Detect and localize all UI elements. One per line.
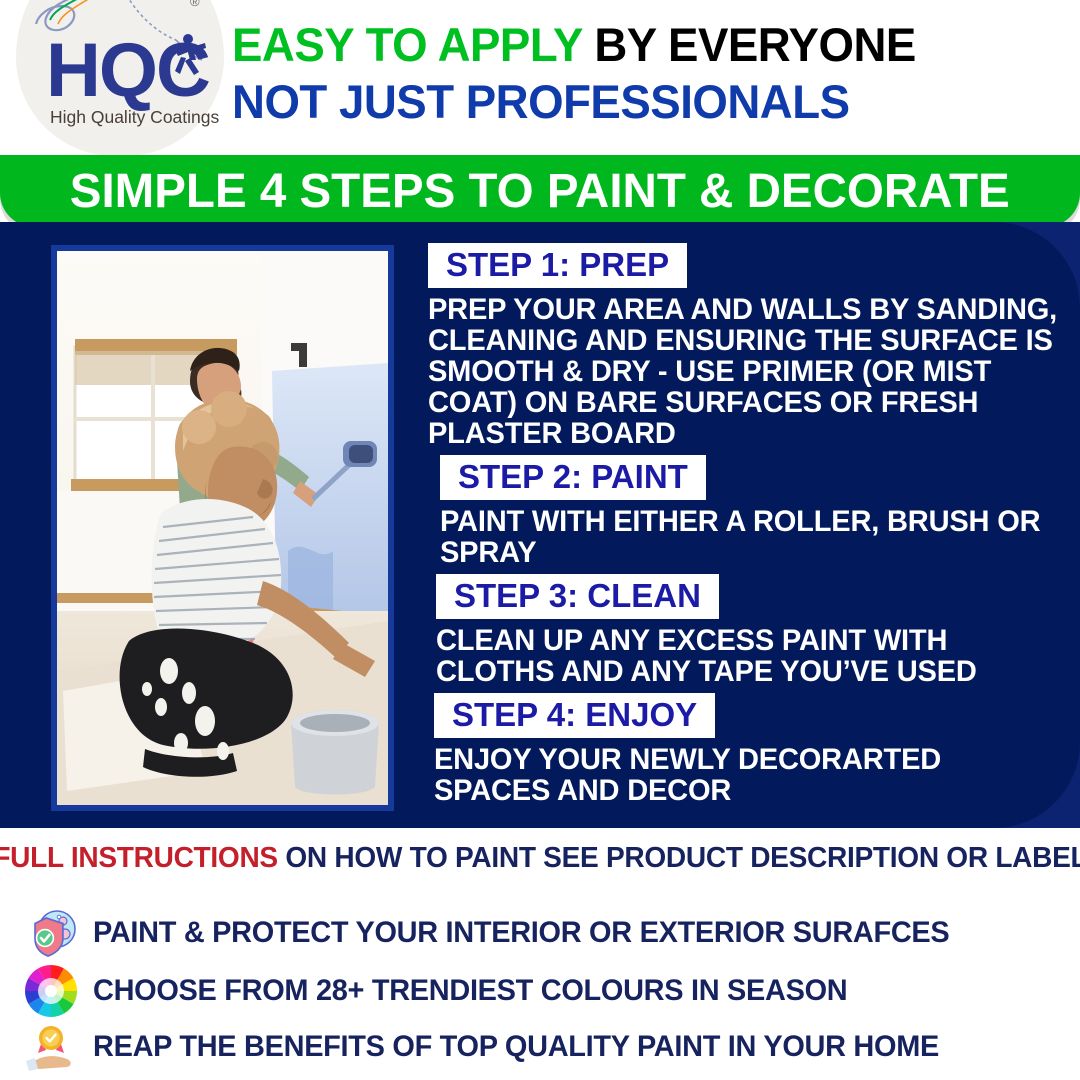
full-instructions-rest: ON HOW TO PAINT SEE PRODUCT DESCRIPTION … [277, 842, 1080, 874]
step-3-chip: STEP 3: CLEAN [436, 574, 719, 619]
paint-tin [291, 710, 379, 795]
brand-logo[interactable]: ® HQC High Quality Coatings [16, 0, 224, 156]
headline-not-just-professionals: NOT JUST PROFESSIONALS [232, 75, 850, 128]
full-instructions-text: FULL INSTRUCTIONS ON HOW TO PAINT SEE PR… [0, 842, 1080, 875]
step-4-body: ENJOY YOUR NEWLY DECORARTED SPACES AND D… [434, 744, 1058, 806]
step-3-body: CLEAN UP ANY EXCESS PAINT WITH CLOTHS AN… [436, 625, 1059, 687]
step-item-4: STEP 4: ENJOY ENJOY YOUR NEWLY DECORARTE… [434, 693, 1068, 806]
step-item-2: STEP 2: PAINT PAINT WITH EITHER A ROLLER… [440, 455, 1068, 568]
step-1-body: PREP YOUR AREA AND WALLS BY SANDING, CLE… [428, 294, 1058, 449]
feature-row-quality: REAP THE BENEFITS OF TOP QUALITY PAINT I… [9, 1018, 1071, 1076]
steps-banner-inner: SIMPLE 4 STEPS TO PAINT & DECORATE [0, 155, 1080, 227]
hqc-wordmark: HQC [46, 28, 209, 113]
steps-banner: SIMPLE 4 STEPS TO PAINT & DECORATE [0, 155, 1080, 227]
feature-text-quality: REAP THE BENEFITS OF TOP QUALITY PAINT I… [93, 1030, 939, 1064]
header-bar: ® HQC High Quality Coatings EASY TO APPL… [0, 0, 1080, 150]
step-2-body: PAINT WITH EITHER A ROLLER, BRUSH OR SPR… [440, 506, 1059, 568]
steps-banner-title: SIMPLE 4 STEPS TO PAINT & DECORATE [70, 164, 1010, 219]
headline-line-1: EASY TO APPLY BY EVERYONE [232, 22, 1049, 68]
shield-check-icon [9, 904, 93, 962]
hand-award-icon [9, 1018, 93, 1076]
feature-text-colours: CHOOSE FROM 28+ TRENDIEST COLOURS IN SEA… [93, 974, 847, 1008]
room-painting-photo [57, 251, 388, 805]
full-instructions-bar: FULL INSTRUCTIONS ON HOW TO PAINT SEE PR… [9, 830, 1071, 886]
feature-row-protect: PAINT & PROTECT YOUR INTERIOR OR EXTERIO… [9, 904, 1071, 962]
step-item-3: STEP 3: CLEAN CLEAN UP ANY EXCESS PAINT … [436, 574, 1068, 687]
features-card: PAINT & PROTECT YOUR INTERIOR OR EXTERIO… [9, 896, 1071, 1080]
step-2-chip: STEP 2: PAINT [440, 455, 706, 500]
full-instructions-highlight: FULL INSTRUCTIONS [0, 842, 277, 874]
feature-text-protect: PAINT & PROTECT YOUR INTERIOR OR EXTERIO… [93, 916, 949, 950]
headline-by-everyone: BY EVERYONE [582, 18, 916, 71]
step-4-chip: STEP 4: ENJOY [434, 693, 715, 738]
feature-row-colours: CHOOSE FROM 28+ TRENDIEST COLOURS IN SEA… [9, 962, 1071, 1020]
logo-tagline: High Quality Coatings [50, 107, 219, 127]
headline-block: EASY TO APPLY BY EVERYONE NOT JUST PROFE… [232, 22, 1074, 125]
step-1-chip: STEP 1: PREP [428, 243, 687, 288]
steps-list: STEP 1: PREP PREP YOUR AREA AND WALLS BY… [428, 243, 1068, 812]
registered-mark-text: ® [190, 0, 200, 9]
hqc-logo-icon: ® HQC High Quality Coatings [16, 0, 224, 156]
headline-line-2: NOT JUST PROFESSIONALS [232, 79, 1049, 125]
photo-illustration [57, 251, 388, 805]
color-wheel-icon [9, 962, 93, 1020]
headline-easy-to-apply: EASY TO APPLY [232, 18, 582, 71]
step-item-1: STEP 1: PREP PREP YOUR AREA AND WALLS BY… [428, 243, 1068, 449]
